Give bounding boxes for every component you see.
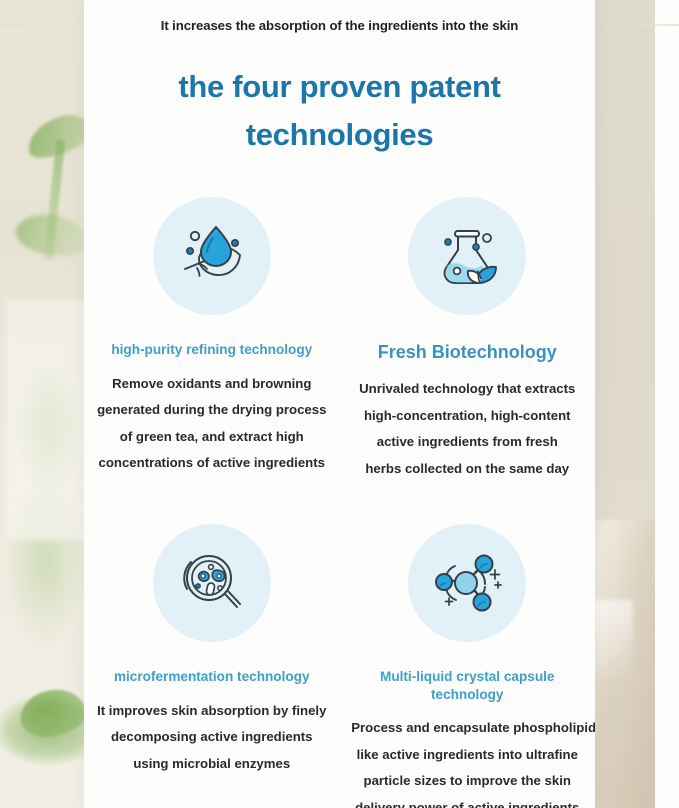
card-body-line: using microbial enzymes [96, 751, 328, 777]
card-body-line: decomposing active ingredients [96, 724, 328, 750]
content-panel: It increases the absorption of the ingre… [84, 0, 595, 808]
page-title-line-2: technologies [246, 117, 434, 152]
page-title-line-1: the four proven patent [178, 69, 500, 104]
card-body-line: active ingredients from fresh [351, 429, 583, 455]
card-body-line: Remove oxidants and browning [96, 371, 328, 397]
background-leaf-icon [12, 207, 92, 263]
technology-card-multi-liquid-crystal-capsule: Multi-liquid crystal capsule technology … [340, 524, 596, 808]
background-white-margin [655, 0, 679, 808]
infographic-page: It increases the absorption of the ingre… [0, 0, 679, 808]
card-title: high-purity refining technology [90, 341, 334, 359]
background-box-highlight [593, 600, 633, 680]
background-stem-icon [44, 140, 65, 260]
card-body: Remove oxidants and browning generated d… [96, 371, 328, 477]
card-title: Fresh Biotechnology [346, 341, 590, 364]
card-body-line: generated during the drying process [96, 397, 328, 423]
card-body-line: It improves skin absorption by finely [96, 698, 328, 724]
card-body-line: Process and encapsulate phospholipid- [351, 715, 583, 741]
card-body-line: of green tea, and extract high [96, 424, 328, 450]
card-body-line: particle sizes to improve the skin [351, 768, 583, 794]
card-body: Process and encapsulate phospholipid- li… [351, 715, 583, 808]
page-title: the four proven patent technologies [84, 63, 595, 159]
card-body-line: herbs collected on the same day [351, 456, 583, 482]
card-body-line: like active ingredients into ultrafine [351, 742, 583, 768]
card-title: Multi-liquid crystal capsule technology [346, 668, 590, 703]
kicker-text: It increases the absorption of the ingre… [84, 0, 595, 33]
card-body-line: concentrations of active ingredients [96, 450, 328, 476]
technology-card-high-purity-refining: high-purity refining technology Remove o… [84, 197, 340, 482]
card-body-line: delivery power of active ingredients [351, 795, 583, 808]
card-body-line: Unrivaled technology that extracts [351, 376, 583, 402]
card-body-line: high-concentration, high-content [351, 403, 583, 429]
molecule-capsule-icon [408, 524, 526, 642]
technology-card-microfermentation: microfermentation technology It improves… [84, 524, 340, 808]
water-drop-leaf-icon [153, 197, 271, 315]
flask-leaf-icon [408, 197, 526, 315]
background-leaf-icon [17, 686, 89, 741]
technology-card-fresh-biotechnology: Fresh Biotechnology Unrivaled technology… [340, 197, 596, 482]
card-body: It improves skin absorption by finely de… [96, 698, 328, 777]
card-body: Unrivaled technology that extracts high-… [351, 376, 583, 482]
card-title: microfermentation technology [90, 668, 334, 686]
microscope-magnifier-cells-icon [153, 524, 271, 642]
technology-card-grid: high-purity refining technology Remove o… [84, 197, 595, 808]
